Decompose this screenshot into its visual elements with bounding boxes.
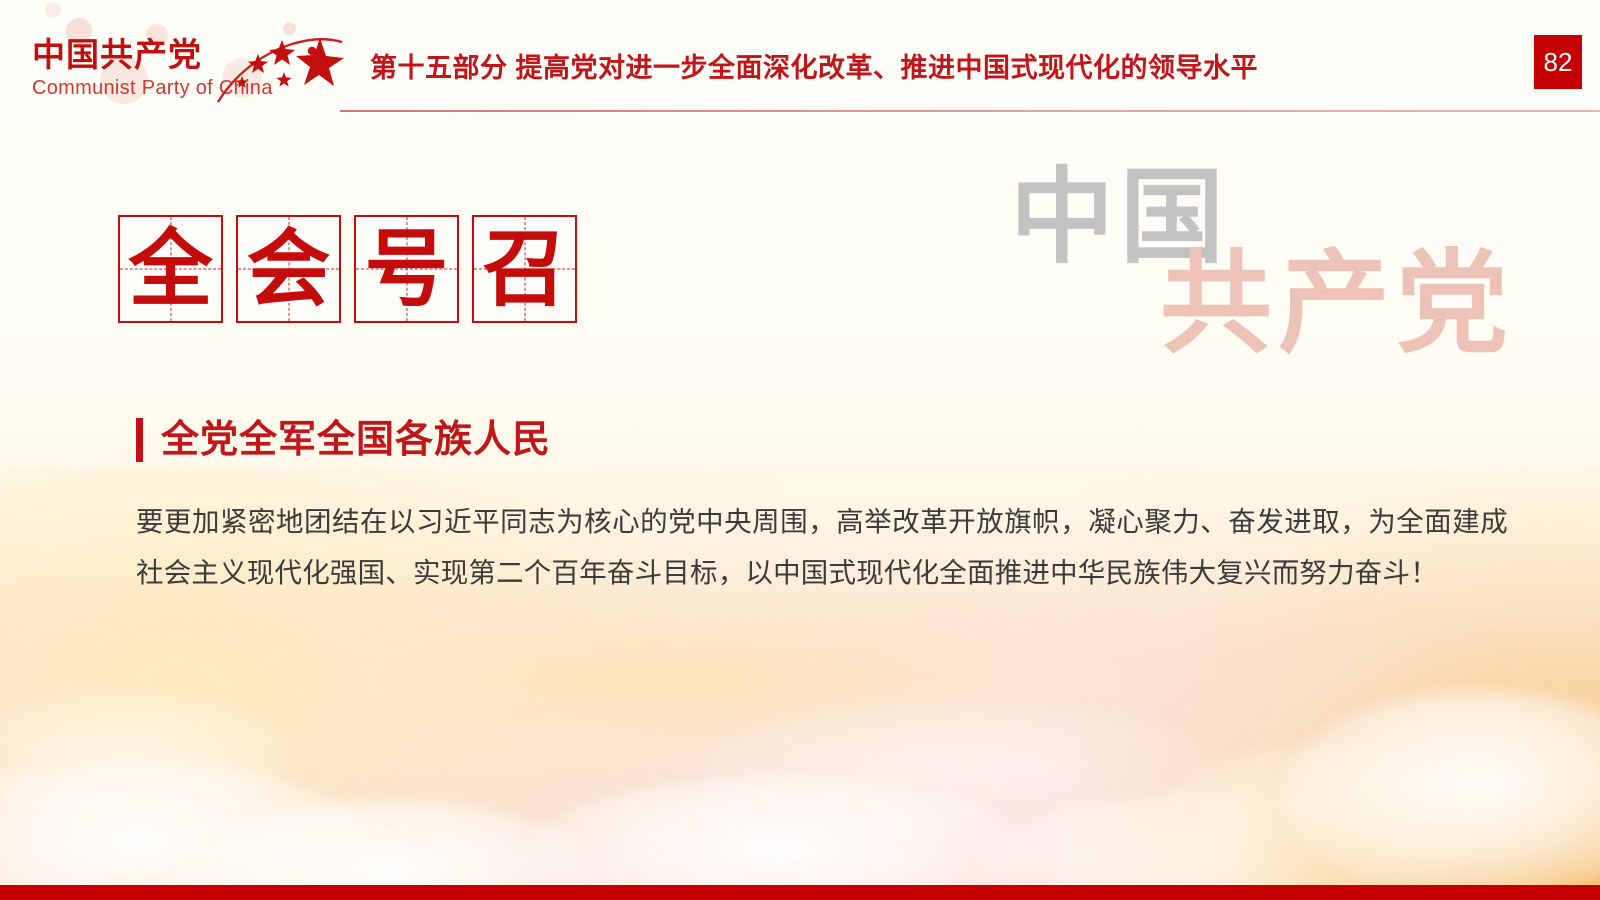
box-character: 会 [238, 217, 339, 321]
body-paragraph: 要更加紧密地团结在以习近平同志为核心的党中央周围，高举改革开放旗帜，凝心聚力、奋… [136, 496, 1508, 598]
watermark-line-2: 共产党 [1160, 248, 1514, 360]
page-title: 第十五部分 提高党对进一步全面深化改革、推进中国式现代化的领导水平 [370, 46, 1258, 85]
character-box: 全 [118, 215, 223, 323]
character-box: 召 [472, 215, 577, 323]
box-character: 召 [474, 217, 575, 321]
five-stars-swoosh-icon [216, 32, 346, 109]
box-character: 号 [356, 217, 457, 321]
section-heading: 全党全军全国各族人民 [136, 418, 551, 462]
footer-accent-bar [0, 885, 1600, 900]
slide-canvas: 中国 共产党 中国共产党 Communist Party of China [0, 0, 1600, 900]
character-box: 会 [236, 215, 341, 323]
character-box: 号 [354, 215, 459, 323]
vertical-accent-bar-icon [136, 418, 143, 462]
title-character-boxes: 全 会 号 召 [118, 215, 577, 323]
page-header: 中国共产党 Communist Party of China [0, 0, 1600, 125]
header-divider [340, 110, 1600, 112]
decorative-circle [45, 2, 61, 18]
page-number-badge: 82 [1534, 35, 1582, 89]
box-character: 全 [120, 217, 221, 321]
section-heading-label: 全党全军全国各族人民 [161, 421, 551, 459]
